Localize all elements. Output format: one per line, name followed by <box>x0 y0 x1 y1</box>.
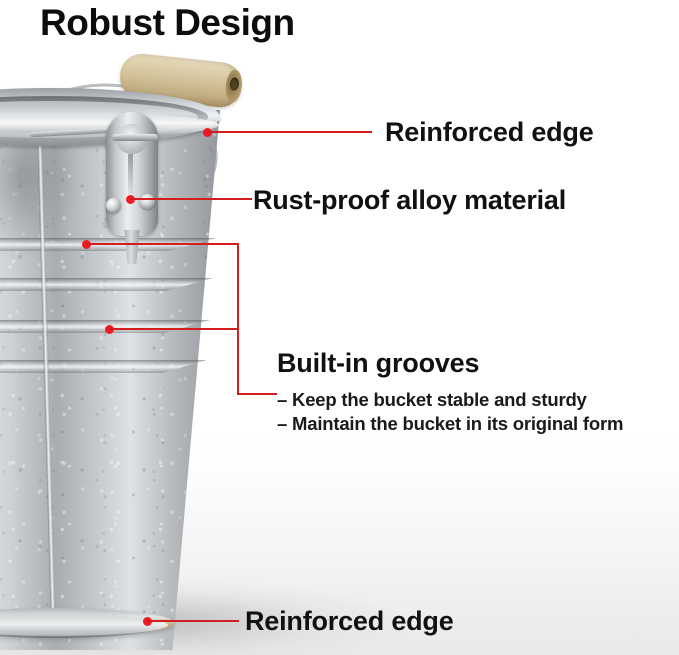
callout-label-built-in-grooves: Built-in grooves <box>277 348 479 379</box>
rivet <box>140 194 155 209</box>
callout-leader-groove-lower <box>109 328 239 330</box>
callout-leader-reinforced-edge-top <box>207 131 372 133</box>
callout-bracket-vertical <box>237 243 239 395</box>
bracket-pin <box>112 134 158 141</box>
callout-leader-rust-proof-alloy <box>130 198 252 200</box>
rivet <box>106 198 121 213</box>
callout-label-reinforced-edge-top: Reinforced edge <box>385 117 594 148</box>
callout-bullets-built-in-grooves: – Keep the bucket stable and sturdy – Ma… <box>277 388 623 436</box>
callout-leader-grooves-out <box>237 393 277 395</box>
page-title: Robust Design <box>40 2 295 44</box>
callout-leader-reinforced-edge-bottom <box>147 620 239 622</box>
product-infographic: Robust Design Reinforced edge Rust-proof… <box>0 0 679 655</box>
callout-label-reinforced-edge-bottom: Reinforced edge <box>245 606 454 637</box>
galvanized-bucket <box>0 88 220 653</box>
bracket-crease <box>128 154 133 194</box>
handle-bracket <box>98 112 170 250</box>
callout-bullet: – Keep the bucket stable and sturdy <box>277 388 623 412</box>
callout-bullet: – Maintain the bucket in its original fo… <box>277 412 623 436</box>
callout-label-rust-proof-alloy: Rust-proof alloy material <box>253 185 566 216</box>
callout-leader-groove-upper <box>86 243 239 245</box>
